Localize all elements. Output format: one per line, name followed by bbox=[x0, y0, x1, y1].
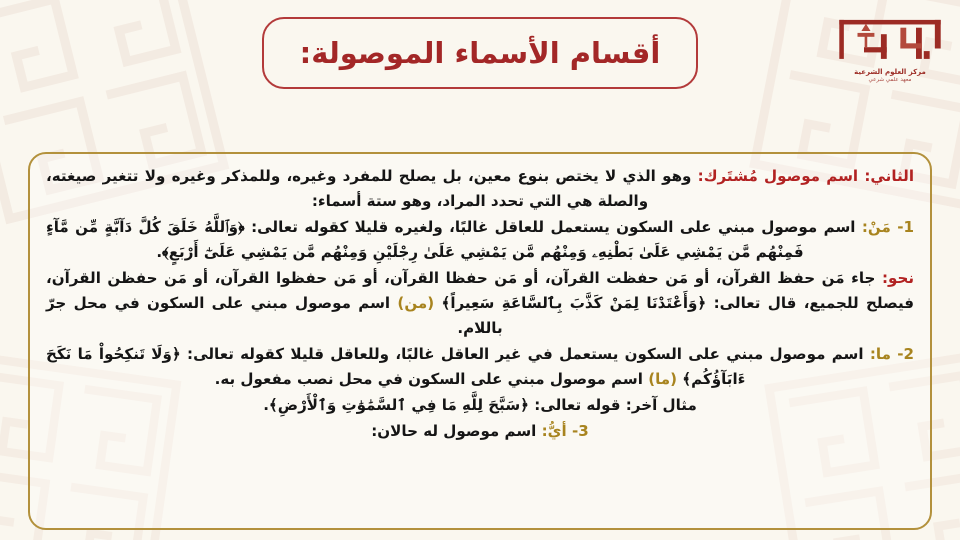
item-3-number: 3- bbox=[572, 422, 589, 440]
ihkam-logo-icon bbox=[838, 18, 942, 66]
item-1-parse-word: (من) bbox=[397, 294, 434, 312]
paragraph-item-3: 3- أيُّ: اسم موصول له حالان: bbox=[46, 419, 914, 444]
item-2-number: 2- bbox=[897, 345, 914, 363]
item-1-definition: اسم موصول مبني على السكون يستعمل للعاقل … bbox=[251, 218, 862, 236]
intro-heading: الثاني: اسم موصول مُشتَرك: bbox=[698, 167, 914, 185]
brand-logo: مركز العلوم الشرعية معهد علمي شرعي bbox=[834, 18, 946, 96]
item-1-example-label: نحو: bbox=[882, 269, 914, 287]
paragraph-item-2-extra: مثال آخر: قوله تعالى: ﴿سَبَّحَ لِلَّهِ م… bbox=[46, 393, 914, 418]
item-1-term: مَنْ: bbox=[862, 218, 891, 236]
page-title: أقسام الأسماء الموصولة: bbox=[300, 39, 661, 68]
lesson-content-box: الثاني: اسم موصول مُشتَرك: وهو الذي لا ي… bbox=[28, 152, 932, 530]
item-1-verse-2: ﴿وَأَعْتَدْنَا لِمَنْ كَذَّبَ بِٱلسَّاعَ… bbox=[441, 294, 706, 312]
item-2-term: ما: bbox=[870, 345, 891, 363]
item-3-term: أيُّ: bbox=[542, 422, 567, 440]
paragraph-intro: الثاني: اسم موصول مُشتَرك: وهو الذي لا ي… bbox=[46, 164, 914, 214]
item-3-definition: اسم موصول له حالان: bbox=[371, 422, 541, 440]
item-2-parse-word: (ما) bbox=[648, 370, 677, 388]
item-2-parse: اسم موصول مبني على السكون في محل نصب مفع… bbox=[215, 370, 649, 388]
item-2-verse-2: ﴿سَبَّحَ لِلَّهِ مَا فِي ٱلسَّمَٰوَٰتِ و… bbox=[263, 396, 529, 414]
intro-text: وهو الذي لا يختص بنوع معين، بل يصلح للمف… bbox=[46, 167, 698, 210]
paragraph-item-1-definition: 1- مَنْ: اسم موصول مبني على السكون يستعم… bbox=[46, 215, 914, 265]
item-2-extra-label: مثال آخر: قوله تعالى: bbox=[534, 396, 697, 414]
item-2-definition: اسم موصول مبني على السكون يستعمل في غير … bbox=[187, 345, 870, 363]
slide-title-box: أقسام الأسماء الموصولة: bbox=[262, 17, 698, 89]
logo-subtitle-secondary: معهد علمي شرعي bbox=[834, 77, 946, 84]
lesson-body: الثاني: اسم موصول مُشتَرك: وهو الذي لا ي… bbox=[46, 164, 914, 445]
slide-canvas: أقسام الأسماء الموصولة: مركز العلوم الشر… bbox=[0, 0, 960, 540]
paragraph-item-1-example: نحو: جاء مَن حفظ القرآن، أو مَن حفظت الق… bbox=[46, 266, 914, 341]
item-1-number: 1- bbox=[897, 218, 914, 236]
paragraph-item-2-definition: 2- ما: اسم موصول مبني على السكون يستعمل … bbox=[46, 342, 914, 392]
logo-subtitle: مركز العلوم الشرعية bbox=[834, 68, 946, 77]
item-1-parse: اسم موصول مبني على السكون في محل جرّ بال… bbox=[46, 294, 503, 337]
